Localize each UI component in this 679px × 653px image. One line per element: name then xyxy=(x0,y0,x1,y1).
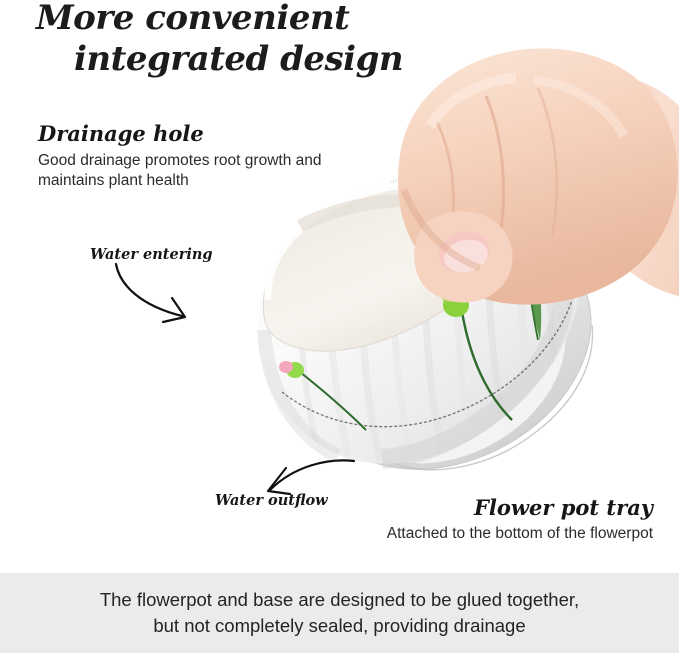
hand-gripping-pot xyxy=(398,48,679,304)
product-infographic: More convenient integrated design Draina… xyxy=(0,0,679,653)
drainage-hole-title: Drainage hole xyxy=(38,121,204,146)
water-outflow-arrow-icon xyxy=(258,452,358,500)
headline-line-2: integrated design xyxy=(36,39,456,80)
drainage-hole-description: Good drainage promotes root growth and m… xyxy=(38,151,338,191)
headline-line-1: More convenient xyxy=(36,0,349,38)
bottom-banner: The flowerpot and base are designed to b… xyxy=(0,573,679,653)
bottom-banner-text: The flowerpot and base are designed to b… xyxy=(100,587,579,639)
flower-pot-tray-title: Flower pot tray xyxy=(474,495,653,520)
water-entering-arrow-icon xyxy=(108,258,204,330)
page-title: More convenient integrated design xyxy=(36,0,456,80)
flower-pot-tray-description: Attached to the bottom of the flowerpot xyxy=(387,524,653,544)
